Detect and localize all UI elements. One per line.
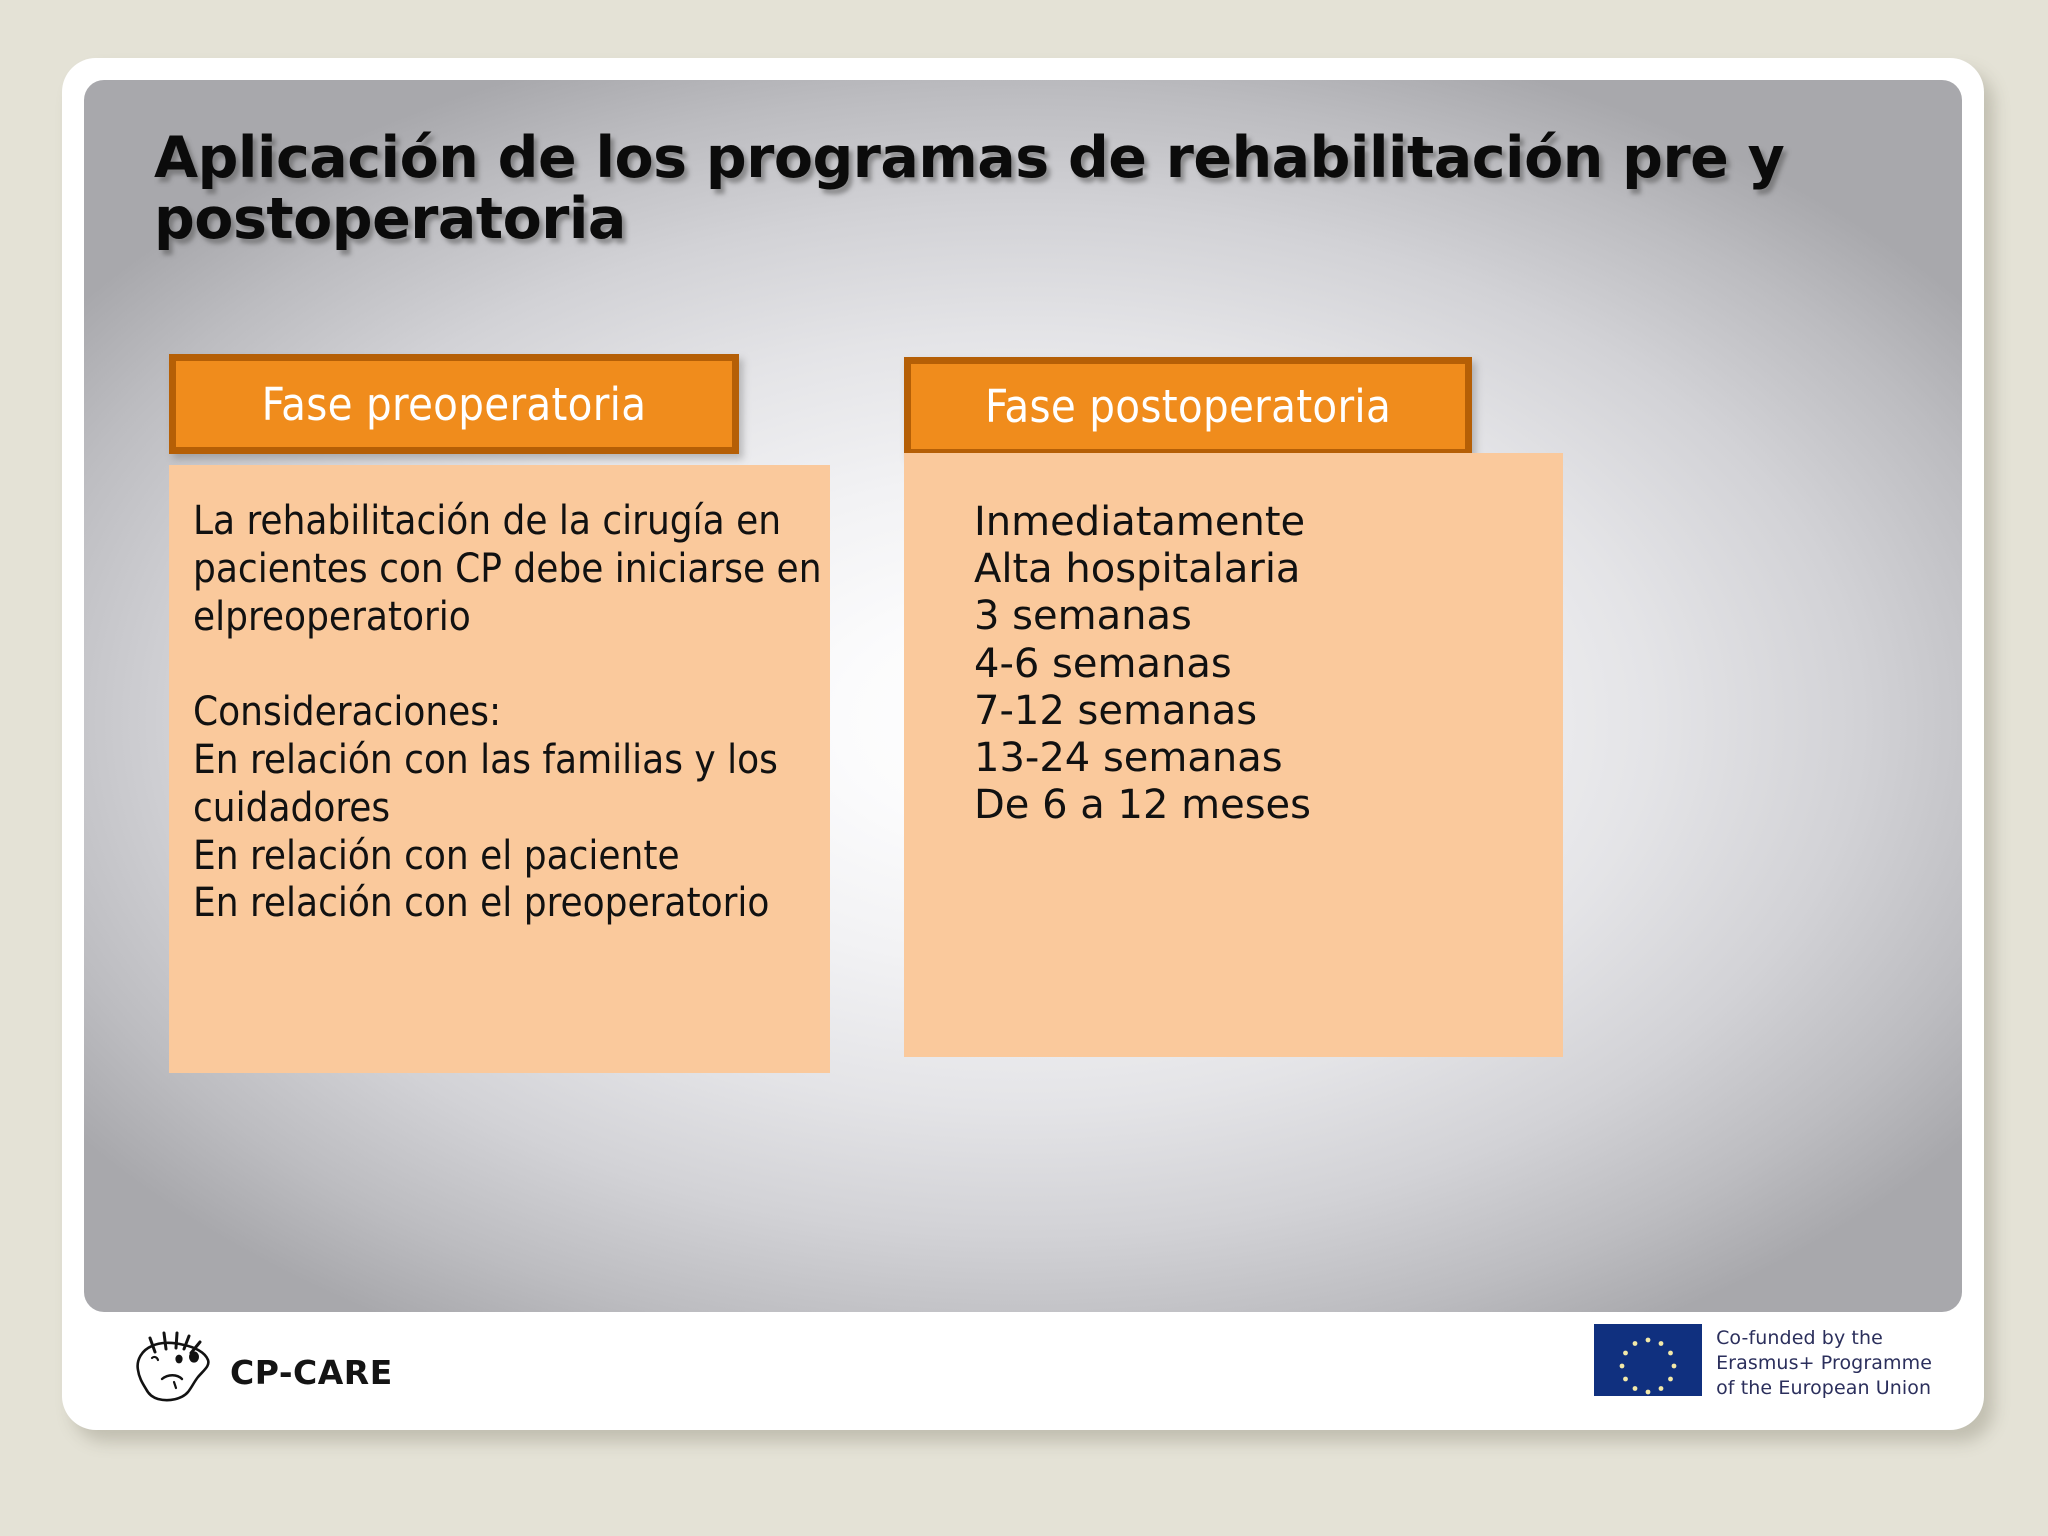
eye-icon: [189, 1351, 199, 1362]
cp-care-logo: CP-CARE: [122, 1322, 402, 1406]
slide-root: Aplicación de los programas de rehabilit…: [0, 0, 2048, 1536]
erasmus-funding-text: Co-funded by the Erasmus+ Programme of t…: [1716, 1324, 1932, 1401]
slide-footer: CP-CARE: [84, 1316, 1962, 1408]
content-box-preoperative: La rehabilitación de la cirugía en pacie…: [169, 465, 830, 1073]
content-box-postoperative: Inmediatamente Alta hospitalaria 3 seman…: [904, 453, 1563, 1057]
page-title: Aplicación de los programas de rehabilit…: [154, 128, 1924, 250]
column-header-postoperative-label: Fase postoperatoria: [911, 380, 1465, 433]
eu-stars-icon: [1594, 1324, 1702, 1396]
content-box-postoperative-text: Inmediatamente Alta hospitalaria 3 seman…: [974, 499, 1574, 829]
erasmus-eu-funding-badge: Co-funded by the Erasmus+ Programme of t…: [1594, 1324, 1932, 1401]
column-header-postoperative: Fase postoperatoria: [904, 357, 1472, 456]
column-header-preoperative-label: Fase preoperatoria: [176, 378, 732, 431]
eu-flag-icon: [1594, 1324, 1702, 1396]
content-box-preoperative-text: La rehabilitación de la cirugía en pacie…: [193, 498, 893, 928]
child-face-icon: [122, 1322, 240, 1406]
slide-content-panel: Aplicación de los programas de rehabilit…: [84, 80, 1962, 1312]
column-header-preoperative: Fase preoperatoria: [169, 354, 739, 454]
slide-card: Aplicación de los programas de rehabilit…: [62, 58, 1984, 1430]
cp-care-wordmark: CP-CARE: [230, 1353, 393, 1392]
eye-icon: [175, 1355, 182, 1364]
